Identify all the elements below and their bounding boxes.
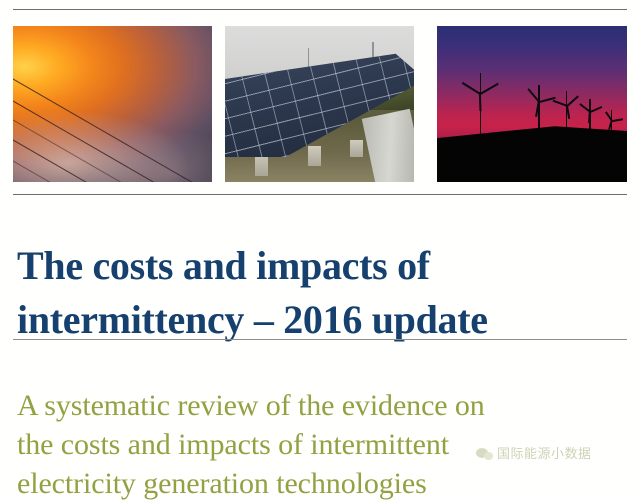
- wind-turbine: [467, 73, 493, 135]
- watermark: 国际能源小数据: [476, 447, 592, 462]
- page-title: The costs and impacts of intermittency –…: [17, 239, 629, 347]
- below-images-divider-rule: [13, 194, 627, 195]
- power-lines-sunset-photo: [13, 26, 212, 182]
- wechat-logo: [476, 447, 493, 462]
- top-divider-rule: [13, 9, 627, 10]
- wind-turbines-dusk-photo: [437, 26, 627, 182]
- page-subtitle: A systematic review of the evidence on t…: [17, 386, 629, 503]
- watermark-text: 国际能源小数据: [497, 447, 592, 462]
- solar-panel-array-photo: [225, 26, 414, 182]
- cover-image-strip: [13, 26, 627, 182]
- document-cover-page: The costs and impacts of intermittency –…: [0, 0, 640, 486]
- panel-support-leg: [350, 140, 363, 157]
- panel-support-leg: [308, 146, 321, 166]
- title-subtitle-divider-rule: [13, 339, 627, 340]
